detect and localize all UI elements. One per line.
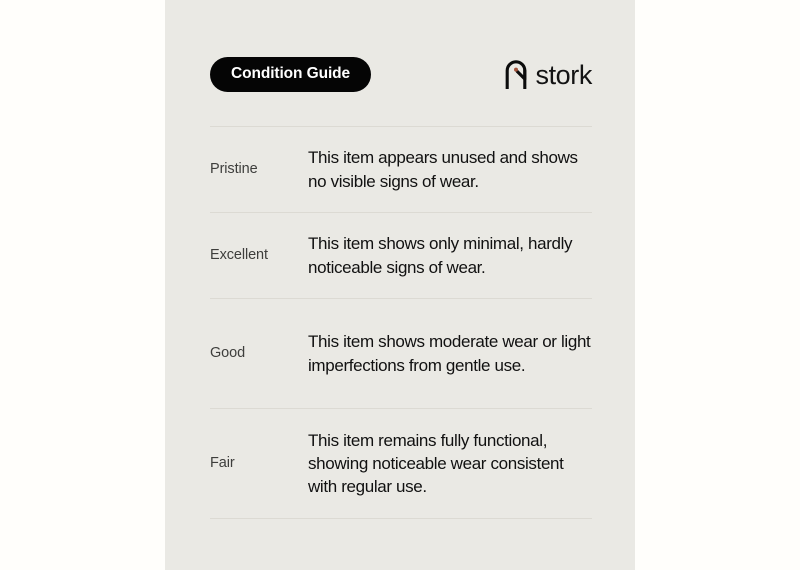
table-row: Good This item shows moderate wear or li… bbox=[210, 299, 592, 408]
condition-description: This item remains fully functional, show… bbox=[308, 429, 592, 499]
condition-description: This item shows moderate wear or light i… bbox=[308, 330, 592, 377]
table-row: Excellent This item shows only minimal, … bbox=[210, 213, 592, 298]
table-divider-bottom bbox=[210, 518, 592, 519]
condition-label: Good bbox=[210, 345, 308, 362]
brand-lockup: stork bbox=[504, 56, 592, 92]
condition-label: Pristine bbox=[210, 161, 308, 178]
condition-label: Excellent bbox=[210, 247, 308, 264]
condition-description: This item appears unused and shows no vi… bbox=[308, 146, 592, 193]
stork-arch-logo-icon bbox=[504, 59, 528, 89]
condition-label: Fair bbox=[210, 455, 308, 472]
card-header: Condition Guide stork bbox=[210, 56, 592, 92]
condition-guide-pill[interactable]: Condition Guide bbox=[210, 57, 371, 92]
condition-guide-card: Condition Guide stork Pristine This item… bbox=[165, 0, 635, 570]
table-row: Pristine This item appears unused and sh… bbox=[210, 127, 592, 212]
brand-wordmark: stork bbox=[535, 62, 592, 89]
condition-description: This item shows only minimal, hardly not… bbox=[308, 232, 592, 279]
table-row: Fair This item remains fully functional,… bbox=[210, 409, 592, 518]
condition-table: Pristine This item appears unused and sh… bbox=[210, 126, 592, 519]
page-root: Condition Guide stork Pristine This item… bbox=[0, 0, 800, 570]
